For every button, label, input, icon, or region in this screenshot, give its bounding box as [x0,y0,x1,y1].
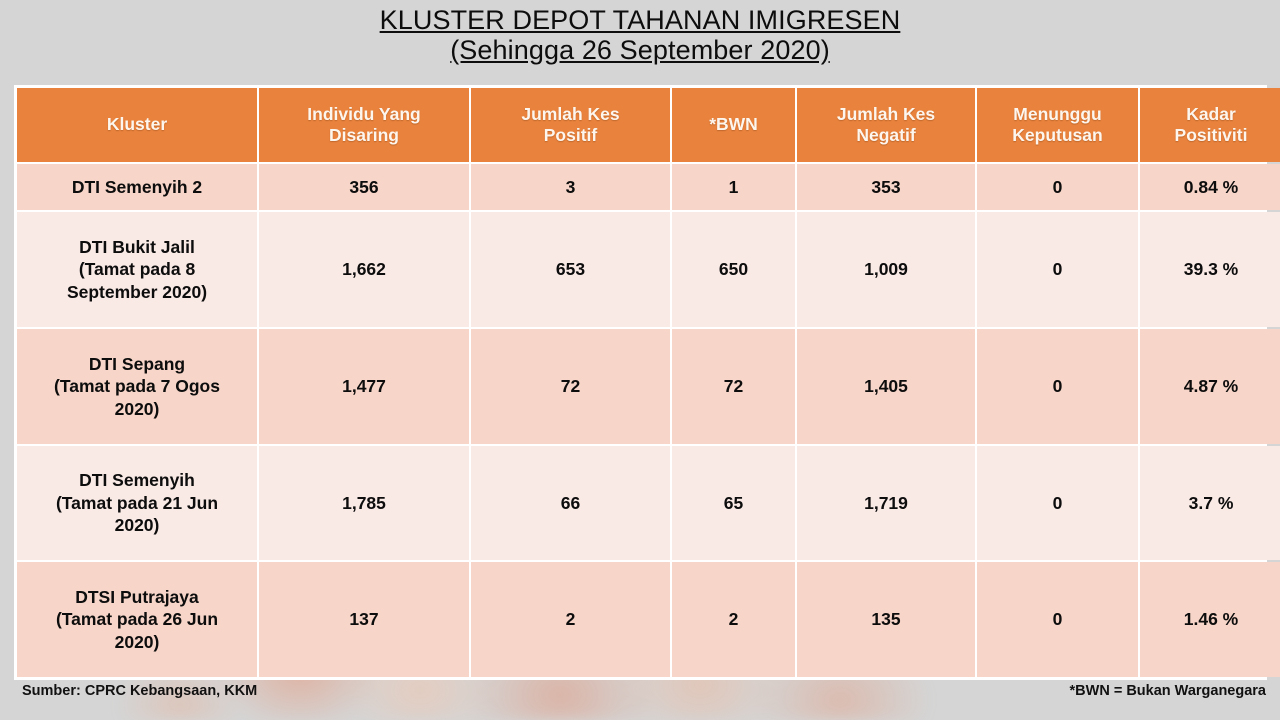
cell-kes-positif: 3 [471,164,670,210]
table-row[interactable]: DTI Bukit Jalil (Tamat pada 8 September … [17,212,1280,327]
cluster-name-line-3: September 2020) [67,282,207,302]
table-row[interactable]: DTI Semenyih (Tamat pada 21 Jun 2020) 1,… [17,446,1280,561]
column-header-kadar-line-1: Kadar [1186,104,1236,124]
column-header-bwn-line-1: *BWN [709,114,758,134]
cluster-name-line-3: 2020) [115,632,160,652]
cluster-name-line-3: 2020) [115,515,160,535]
cluster-name-line-1: DTI Semenyih 2 [72,177,202,197]
cluster-name-line-1: DTI Bukit Jalil [79,237,195,257]
cell-kes-positif: 653 [471,212,670,327]
column-header-positif-line-1: Jumlah Kes [521,104,619,124]
cluster-name-line-3: 2020) [115,399,160,419]
cell-menunggu-keputusan: 0 [977,562,1138,677]
page-title-line-1: KLUSTER DEPOT TAHANAN IMIGRESEN [380,6,901,35]
cell-bwn: 650 [672,212,795,327]
column-header-jumlah-kes-negatif[interactable]: Jumlah Kes Negatif [797,88,975,162]
column-header-negatif-line-1: Jumlah Kes [837,104,935,124]
table-row[interactable]: DTSI Putrajaya (Tamat pada 26 Jun 2020) … [17,562,1280,677]
cell-kadar-positiviti: 3.7 % [1140,446,1280,561]
cluster-name-line-1: DTI Semenyih [79,470,195,490]
page-title-line-2: (Sehingga 26 September 2020) [450,36,830,65]
cell-kes-positif: 2 [471,562,670,677]
cell-kluster: DTI Semenyih 2 [17,164,257,210]
cell-menunggu-keputusan: 0 [977,329,1138,444]
cell-kes-negatif: 1,719 [797,446,975,561]
column-header-positif-line-2: Positif [544,125,597,145]
column-header-kluster-line-1: Kluster [107,114,167,134]
cell-kluster: DTI Bukit Jalil (Tamat pada 8 September … [17,212,257,327]
column-header-negatif-line-2: Negatif [856,125,915,145]
table-row[interactable]: DTI Sepang (Tamat pada 7 Ogos 2020) 1,47… [17,329,1280,444]
cell-kes-positif: 72 [471,329,670,444]
cell-bwn: 72 [672,329,795,444]
cluster-name-line-2: (Tamat pada 26 Jun [56,609,218,629]
cell-kes-negatif: 1,009 [797,212,975,327]
cell-individu-disaring: 356 [259,164,469,210]
column-header-bwn[interactable]: *BWN [672,88,795,162]
column-header-menunggu-keputusan[interactable]: Menunggu Keputusan [977,88,1138,162]
footer: Sumber: CPRC Kebangsaan, KKM *BWN = Buka… [0,683,1280,720]
cell-bwn: 2 [672,562,795,677]
column-header-individu-yang-disaring[interactable]: Individu Yang Disaring [259,88,469,162]
cell-individu-disaring: 137 [259,562,469,677]
cell-kadar-positiviti: 1.46 % [1140,562,1280,677]
table-header-row: Kluster Individu Yang Disaring Jumlah Ke… [17,88,1280,162]
cell-kadar-positiviti: 39.3 % [1140,212,1280,327]
cell-individu-disaring: 1,477 [259,329,469,444]
column-header-kadar-positiviti[interactable]: Kadar Positiviti [1140,88,1280,162]
cluster-table-container: Kluster Individu Yang Disaring Jumlah Ke… [14,85,1267,680]
column-header-menunggu-line-2: Keputusan [1012,125,1102,145]
cluster-name-line-1: DTSI Putrajaya [75,587,199,607]
cell-kluster: DTI Semenyih (Tamat pada 21 Jun 2020) [17,446,257,561]
cluster-name-line-1: DTI Sepang [89,354,185,374]
column-header-jumlah-kes-positif[interactable]: Jumlah Kes Positif [471,88,670,162]
source-label: Sumber: CPRC Kebangsaan, KKM [22,683,257,699]
cell-bwn: 1 [672,164,795,210]
cell-kes-negatif: 135 [797,562,975,677]
cell-kadar-positiviti: 4.87 % [1140,329,1280,444]
cell-menunggu-keputusan: 0 [977,164,1138,210]
cluster-name-line-2: (Tamat pada 7 Ogos [54,376,220,396]
cluster-name-line-2: (Tamat pada 8 [79,259,195,279]
bwn-legend-note: *BWN = Bukan Warganegara [1070,683,1266,699]
cell-kes-negatif: 1,405 [797,329,975,444]
column-header-kluster[interactable]: Kluster [17,88,257,162]
cell-kes-positif: 66 [471,446,670,561]
column-header-disaring-line-2: Disaring [329,125,399,145]
cell-kluster: DTSI Putrajaya (Tamat pada 26 Jun 2020) [17,562,257,677]
table-row[interactable]: DTI Semenyih 2 356 3 1 353 0 0.84 % [17,164,1280,210]
cell-menunggu-keputusan: 0 [977,446,1138,561]
cell-bwn: 65 [672,446,795,561]
cluster-table: Kluster Individu Yang Disaring Jumlah Ke… [15,86,1280,679]
page-title: KLUSTER DEPOT TAHANAN IMIGRESEN (Sehingg… [0,6,1280,65]
cell-menunggu-keputusan: 0 [977,212,1138,327]
cell-kes-negatif: 353 [797,164,975,210]
cell-individu-disaring: 1,785 [259,446,469,561]
cluster-name-line-2: (Tamat pada 21 Jun [56,493,218,513]
column-header-menunggu-line-1: Menunggu [1013,104,1101,124]
cell-kluster: DTI Sepang (Tamat pada 7 Ogos 2020) [17,329,257,444]
cell-kadar-positiviti: 0.84 % [1140,164,1280,210]
cell-individu-disaring: 1,662 [259,212,469,327]
column-header-kadar-line-2: Positiviti [1175,125,1248,145]
column-header-disaring-line-1: Individu Yang [307,104,420,124]
slide-page: KLUSTER DEPOT TAHANAN IMIGRESEN (Sehingg… [0,0,1280,720]
